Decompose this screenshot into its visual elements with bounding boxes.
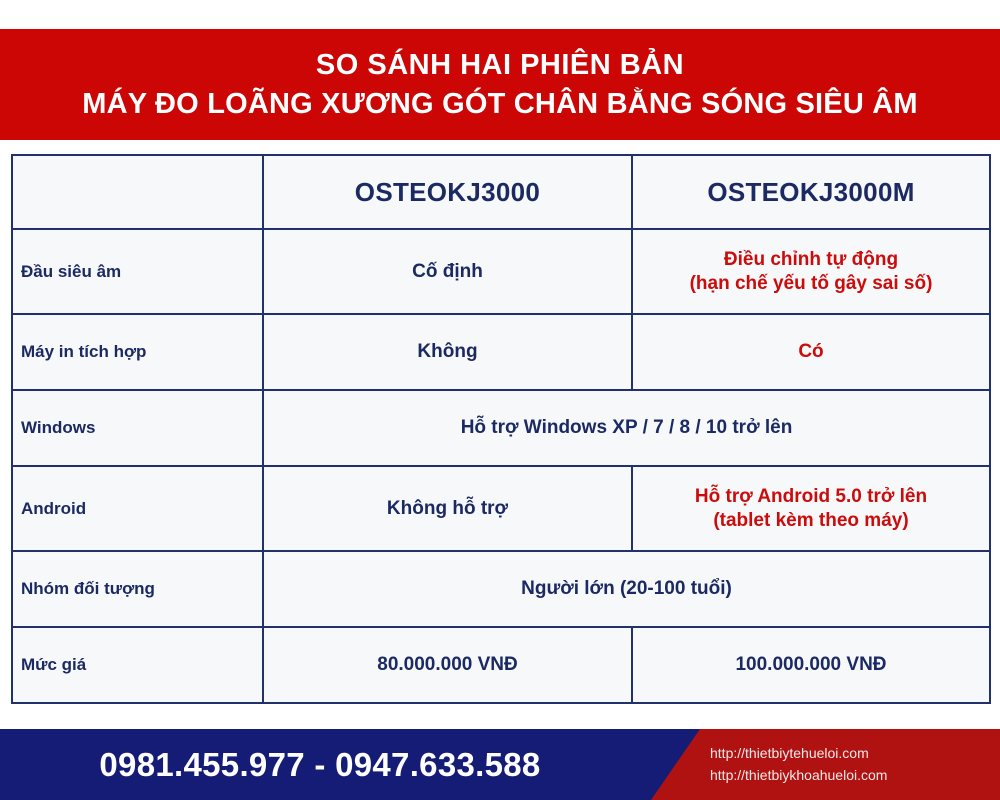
cell-dau-sieu-am-model-a: Cố định — [263, 229, 632, 314]
cell-text-line-1: Hỗ trợ Android 5.0 trở lên — [641, 485, 981, 508]
cell-muc-gia-model-a: 80.000.000 VNĐ — [263, 627, 632, 703]
cell-android-model-a: Không hỗ trợ — [263, 466, 632, 551]
table-row: Android Không hỗ trợ Hỗ trợ Android 5.0 … — [12, 466, 990, 551]
cell-text-line-2: (hạn chế yếu tố gây sai số) — [641, 272, 981, 295]
comparison-table-container: OSTEOKJ3000 OSTEOKJ3000M Đầu siêu âm Cố … — [11, 154, 989, 704]
table-row: Đầu siêu âm Cố định Điều chỉnh tự động (… — [12, 229, 990, 314]
table-row: Nhóm đối tượng Người lớn (20-100 tuổi) — [12, 551, 990, 627]
cell-android-model-b: Hỗ trợ Android 5.0 trở lên (tablet kèm t… — [632, 466, 990, 551]
header-model-a: OSTEOKJ3000 — [263, 155, 632, 229]
footer-bar: 0981.455.977 - 0947.633.588 http://thiet… — [0, 729, 1000, 800]
banner-title-line-2: MÁY ĐO LOÃNG XƯƠNG GÓT CHÂN BẰNG SÓNG SI… — [82, 87, 917, 121]
cell-windows-merged: Hỗ trợ Windows XP / 7 / 8 / 10 trở lên — [263, 390, 990, 466]
row-label-may-in-tich-hop: Máy in tích hợp — [12, 314, 263, 390]
footer-phone-numbers: 0981.455.977 - 0947.633.588 — [0, 729, 640, 800]
row-label-nhom-doi-tuong: Nhóm đối tượng — [12, 551, 263, 627]
banner-title-line-1: SO SÁNH HAI PHIÊN BẢN — [316, 48, 684, 82]
cell-may-in-model-a: Không — [263, 314, 632, 390]
cell-text-line-1: Điều chỉnh tự động — [641, 248, 981, 271]
cell-dau-sieu-am-model-b: Điều chỉnh tự động (hạn chế yếu tố gây s… — [632, 229, 990, 314]
table-row: Windows Hỗ trợ Windows XP / 7 / 8 / 10 t… — [12, 390, 990, 466]
row-label-dau-sieu-am: Đầu siêu âm — [12, 229, 263, 314]
header-blank-cell — [12, 155, 263, 229]
row-label-windows: Windows — [12, 390, 263, 466]
comparison-infographic: SO SÁNH HAI PHIÊN BẢN MÁY ĐO LOÃNG XƯƠNG… — [0, 0, 1000, 800]
cell-text-line-2: (tablet kèm theo máy) — [641, 509, 981, 532]
table-header-row: OSTEOKJ3000 OSTEOKJ3000M — [12, 155, 990, 229]
comparison-table: OSTEOKJ3000 OSTEOKJ3000M Đầu siêu âm Cố … — [11, 154, 991, 704]
table-row: Mức giá 80.000.000 VNĐ 100.000.000 VNĐ — [12, 627, 990, 703]
table-row: Máy in tích hợp Không Có — [12, 314, 990, 390]
cell-may-in-model-b: Có — [632, 314, 990, 390]
footer-link-secondary[interactable]: http://thietbiykhoahueloi.com — [710, 765, 887, 787]
header-banner: SO SÁNH HAI PHIÊN BẢN MÁY ĐO LOÃNG XƯƠNG… — [0, 29, 1000, 140]
footer-website-links: http://thietbiytehueloi.com http://thiet… — [710, 729, 1000, 800]
header-model-b: OSTEOKJ3000M — [632, 155, 990, 229]
cell-muc-gia-model-b: 100.000.000 VNĐ — [632, 627, 990, 703]
row-label-muc-gia: Mức giá — [12, 627, 263, 703]
cell-nhom-doi-tuong-merged: Người lớn (20-100 tuổi) — [263, 551, 990, 627]
footer-link-primary[interactable]: http://thietbiytehueloi.com — [710, 743, 869, 765]
row-label-android: Android — [12, 466, 263, 551]
